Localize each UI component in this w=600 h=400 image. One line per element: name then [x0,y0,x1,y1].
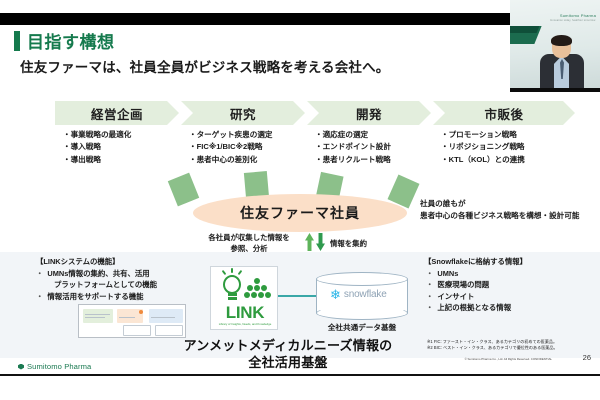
snowflake-item-2: インサイト [437,291,474,302]
list-item: ・ 情報活用をサポートする機能 [36,291,184,302]
lightbulb-icon [221,272,243,302]
thumb-text-line [85,317,105,318]
stage-bullets-1: ターゲット疾患の選定 FIC※1/BIC※2戦略 患者中心の差別化 [189,129,313,166]
list-item: ・ 上記の根拠となる情報 [426,302,594,313]
exchange-left-line1: 各社員が収集した情報を [193,232,305,243]
list-item: 患者リクルート戦略 [315,154,439,166]
stage-bullets-0: 事業戦略の最適化 導入戦略 導出戦略 [63,129,183,166]
link-panel-title: 【LINKシステムの機能】 [36,256,184,267]
link-feature-panel: 【LINKシステムの機能】 ・ UMNs情報の集約、共有、活用 プラットフォーム… [36,256,184,302]
presenter-video-overlay[interactable]: Sumitomo Pharma Innovation today, health… [510,0,600,92]
list-item: 事業戦略の最適化 [63,129,183,141]
lightbulb-base-2 [228,297,237,300]
title-accent-bar [14,31,20,51]
stage-banner-3: 市販後 [433,101,575,125]
capability-note: 社員の誰もが 患者中心の各種ビジネス戦略を構想・設計可能 [420,198,579,222]
sumitomo-mark-icon [18,364,24,370]
arrow-up-icon [305,233,314,251]
stage-banner-2: 開発 [307,101,431,125]
lightbulb-ray [238,270,243,275]
employee-ellipse: 住友ファーマ社員 [193,194,407,232]
stage-label-3: 市販後 [484,104,523,123]
stage-banner-0: 経営企画 [55,101,179,125]
video-brand-logo: Sumitomo Pharma Innovation today, health… [550,13,596,23]
exchange-label-right: 情報を集約 [330,238,367,249]
headline-line1: アンメットメディカルニーズ情報の [152,338,424,355]
bidirectional-arrow-icon [305,233,327,251]
bullet-dot-icon: ・ [426,302,433,313]
link-tagline: Library of Insights, Needs, and Knowledg… [214,322,276,326]
thumb-card-green [83,309,113,323]
list-item: ・ UMNs [426,268,594,279]
subtitle-text: 住友ファーマは、社員全員がビジネス戦略を考える会社へ。 [20,56,390,76]
snowflake-item-1: 医療現場の問題 [437,279,489,290]
link-item-0-line1: UMNs情報の集約、共有、活用 [47,268,149,279]
cylinder-top [316,272,408,286]
list-item: FIC※1/BIC※2戦略 [189,141,313,153]
data-platform-cylinder: ❄ snowflake [316,272,408,320]
bullet-dot-icon: ・ [36,291,43,302]
stage-label-0: 経営企画 [91,104,143,123]
bullet-dot-icon: ・ [426,279,433,290]
list-item: ・ 医療現場の問題 [426,279,594,290]
cylinder-bottom [316,306,408,320]
thumb-text-line [119,317,135,318]
corporate-logo: Sumitomo Pharma [18,362,91,371]
page-title: 目指す構想 [14,28,115,53]
lightbulb-ray [231,268,233,273]
employee-ellipse-label: 住友ファーマ社員 [240,203,360,223]
capability-note-line1: 社員の誰もが [420,198,579,210]
list-item: ターゲット疾患の選定 [189,129,313,141]
list-item: リポジショニング戦略 [441,141,591,153]
headline-line2: 全社活用基盤 [152,355,424,372]
thumb-card-detail-2 [155,325,183,336]
snowflake-content-panel: 【Snowflakeに格納する情報】 ・ UMNs ・ 医療現場の問題 ・ イン… [424,256,594,313]
stage-banner-1: 研究 [181,101,305,125]
thumb-badge-dot [139,310,143,314]
lightbulb-base-1 [228,293,237,296]
snowflake-panel-title: 【Snowflakeに格納する情報】 [424,256,594,267]
presenter-figure [540,36,584,92]
capability-note-line2: 患者中心の各種ビジネス戦略を構想・設計可能 [420,210,579,222]
arrow-down-icon [316,233,325,251]
thumb-card-detail-1 [123,325,151,336]
snowflake-item-3: 上記の根拠となる情報 [437,302,511,313]
list-item: ・ UMNs情報の集約、共有、活用 [36,268,184,279]
list-item: プロモーション戦略 [441,129,591,141]
list-item: 導出戦略 [63,154,183,166]
link-logo: LINK Library of Insights, Needs, and Kno… [210,266,278,330]
link-item-0-line2: プラットフォームとしての機能 [36,279,157,290]
video-bottom-bar [510,88,600,92]
stage-label-2: 開発 [356,104,382,123]
stage-bullets-3: プロモーション戦略 リポジショニング戦略 KTL（KOL）との連携 [441,129,591,166]
video-green-accent-dark [510,26,539,33]
up-arrow-icon [168,173,199,207]
thumb-card-blue [149,309,183,323]
snowflake-item-0: UMNs [437,268,458,279]
link-to-snowflake-connector [278,295,316,297]
list-item: 患者中心の差別化 [189,154,313,166]
presenter-hair [551,35,572,46]
data-platform-caption: 全社共通データ基盤 [308,322,416,333]
list-item: ・ インサイト [426,291,594,302]
list-item: KTL（KOL）との連携 [441,154,591,166]
footnotes: ※1 FIC: ファースト・イン・クラス、あるカテゴリの初めての医薬品。 ※2 … [427,339,587,351]
list-item: エンドポイント設計 [315,141,439,153]
snowflake-logo: ❄ snowflake [330,288,387,301]
bullet-dot-icon: ・ [36,268,43,279]
lightbulb-glass [223,275,241,294]
lightbulb-ray [222,270,227,275]
list-item: 適応症の選定 [315,129,439,141]
stage-label-1: 研究 [230,104,256,123]
slide-canvas: Sumitomo Pharma Innovation today, health… [0,0,600,400]
thumb-text-line [151,317,175,318]
link-item-1-line1: 情報活用をサポートする機能 [47,291,143,302]
corporate-name: Sumitomo Pharma [27,362,91,371]
thumb-text-line [85,314,110,315]
bullet-dot-icon: ・ [426,268,433,279]
link-wordmark: LINK [216,303,274,323]
link-screenshot-thumbnail[interactable] [78,304,186,338]
copyright-text: © Sumitomo Pharma Co., Ltd. All Rights R… [427,357,552,361]
snowflake-wordmark: snowflake [344,289,387,300]
page-number: 26 [583,353,591,362]
video-brand-tagline: Innovation today, healthier tomorrow. [550,19,596,23]
list-item: 導入戦略 [63,141,183,153]
stage-banner-row: 経営企画 研究 開発 市販後 [55,101,575,125]
bottom-headline: アンメットメディカルニーズ情報の 全社活用基盤 [152,338,424,371]
stage-bullets-2: 適応症の選定 エンドポイント設計 患者リクルート戦略 [315,129,439,166]
footer-rule [0,374,600,376]
bullet-dot-icon: ・ [426,291,433,302]
snowflake-icon: ❄ [330,288,341,301]
title-text: 目指す構想 [27,28,115,53]
list-item: プラットフォームとしての機能 [36,279,184,290]
knowledge-dots-icon [244,278,270,298]
footnote-2: ※2 BIC: ベスト・イン・クラス、あるカテゴリで優位性のある医薬品。 [427,345,587,351]
